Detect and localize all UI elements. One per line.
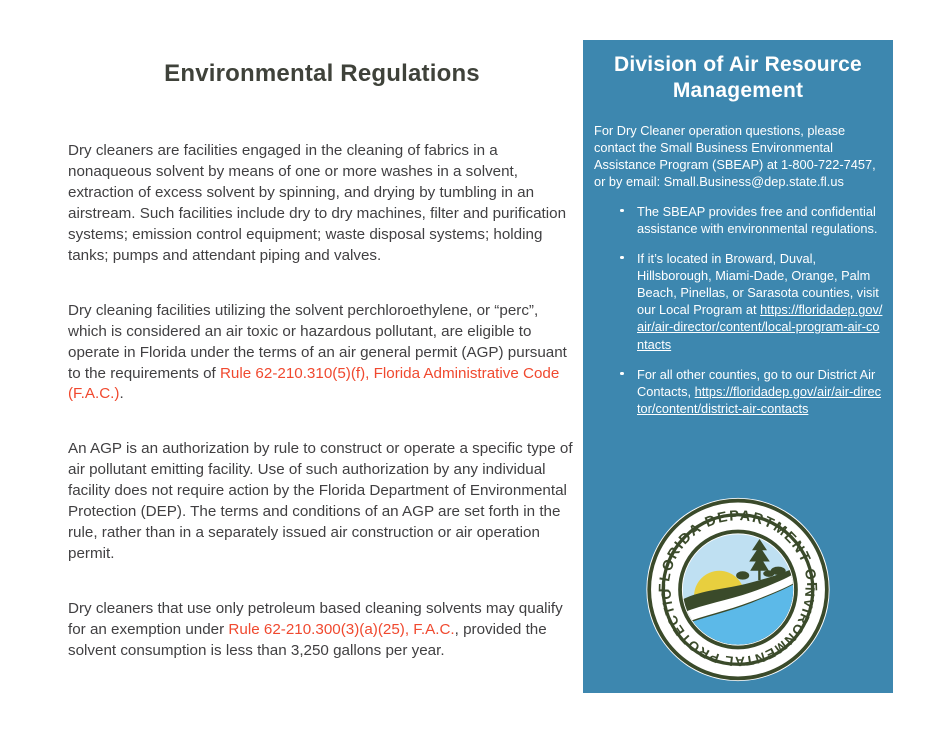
list-item: For all other counties, go to our Distri…: [593, 366, 883, 417]
page-title: Environmental Regulations: [68, 60, 576, 89]
list-item: If it’s located in Broward, Duval, Hills…: [593, 250, 883, 353]
sidebar-bullet-list: The SBEAP provides free and confidential…: [593, 203, 883, 418]
bullet-dot-icon: [620, 209, 624, 213]
sidebar-title: Division of Air Resource Management: [593, 52, 883, 104]
paragraph-petroleum-exemption: Dry cleaners that use only petroleum bas…: [68, 599, 576, 662]
bullet-dot-icon: [620, 372, 624, 376]
main-content-column: Environmental Regulations Dry cleaners a…: [68, 60, 576, 662]
paragraph-agp-definition: An AGP is an authorization by rule to co…: [68, 439, 576, 565]
bullet-dot-icon: [620, 256, 624, 260]
list-item: The SBEAP provides free and confidential…: [593, 203, 883, 237]
florida-dep-seal-icon: FLORIDA DEPARTMENT OF ENVIRONMENTAL PROT…: [645, 496, 832, 683]
paragraph-perc-agp: Dry cleaning facilities utilizing the so…: [68, 301, 576, 406]
paragraph-definition: Dry cleaners are facilities engaged in t…: [68, 141, 576, 267]
sidebar-intro-text: For Dry Cleaner operation questions, ple…: [593, 122, 883, 191]
bullet-text: The SBEAP provides free and confidential…: [637, 204, 877, 236]
rule-reference-link-62-210-300[interactable]: Rule 62-210.300(3)(a)(25), F.A.C.: [228, 621, 454, 638]
division-sidebar-panel: Division of Air Resource Management For …: [583, 40, 893, 693]
paragraph-perc-agp-tail: .: [119, 385, 123, 402]
